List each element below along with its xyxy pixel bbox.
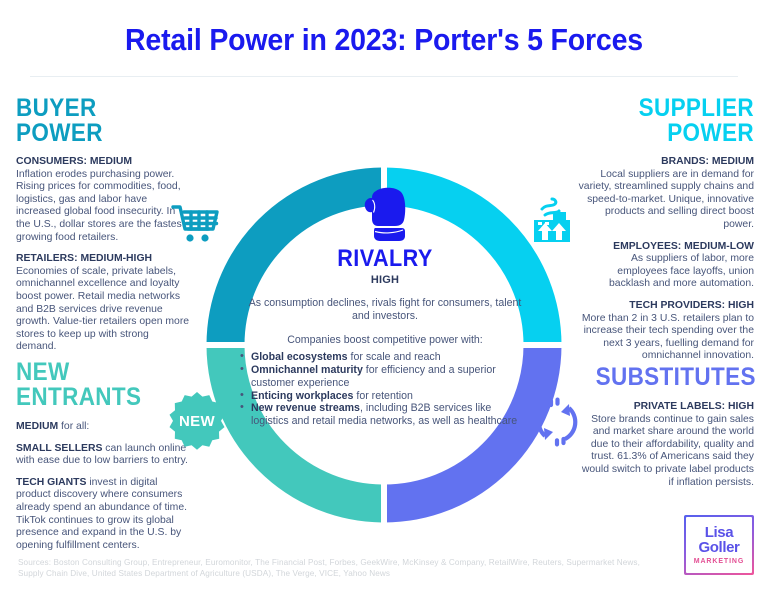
rivalry-title: RIVALRY — [254, 246, 517, 271]
supplier-tech-label: TECH PROVIDERS: HIGH — [629, 300, 754, 311]
supplier-block-brands: BRANDS: MEDIUM Local suppliers are in de… — [578, 156, 754, 232]
infographic-page: Retail Power in 2023: Porter's 5 Forces … — [0, 0, 768, 593]
shopping-cart-icon — [168, 196, 222, 250]
bullet-3-bold: New revenue streams — [251, 402, 360, 414]
new-entrants-section: NEW ENTRANTS MEDIUM for all: SMALL SELLE… — [16, 360, 192, 552]
supplier-employees-text: As suppliers of labor, more employees fa… — [609, 253, 754, 289]
rivalry-intro-text: Companies boost competitive power with: — [239, 334, 531, 347]
sources-text: Sources: Boston Consulting Group, Entrep… — [18, 557, 658, 579]
supplier-power-heading: SUPPLIER POWER — [596, 96, 754, 146]
substitutes-private-label: PRIVATE LABELS: HIGH — [634, 401, 754, 412]
title-divider — [30, 76, 738, 77]
bullet-0-rest: for scale and reach — [348, 351, 441, 363]
center-rivalry-panel: RIVALRY HIGH As consumption declines, ri… — [239, 186, 531, 506]
logo-line-1: Lisa — [705, 525, 733, 540]
substitutes-heading: SUBSTITUTES — [596, 365, 754, 390]
rivalry-lead-text: As consumption declines, rivals fight fo… — [239, 297, 531, 323]
new-medium-text: for all: — [58, 421, 89, 432]
supplier-brands-text: Local suppliers are in demand for variet… — [579, 169, 754, 230]
buyer-retailers-label: RETAILERS: MEDIUM-HIGH — [16, 253, 152, 264]
buyer-consumers-label: CONSUMERS: MEDIUM — [16, 156, 132, 167]
rivalry-level: HIGH — [239, 274, 531, 286]
buyer-power-block-retailers: RETAILERS: MEDIUM-HIGH Economies of scal… — [16, 253, 192, 354]
list-item: Enticing workplaces for retention — [239, 390, 531, 403]
bullet-2-bold: Enticing workplaces — [251, 390, 353, 402]
logo-line-2: Goller — [699, 540, 740, 555]
list-item: New revenue streams, including B2B servi… — [239, 402, 531, 428]
logo-line-3: MARKETING — [694, 558, 745, 565]
substitutes-section: SUBSTITUTES PRIVATE LABELS: HIGH Store b… — [578, 365, 754, 489]
new-entrants-heading: NEW ENTRANTS — [16, 360, 174, 410]
supplier-brands-label: BRANDS: MEDIUM — [661, 156, 754, 167]
bullet-0-bold: Global ecosystems — [251, 351, 348, 363]
substitutes-block-private-labels: PRIVATE LABELS: HIGH Store brands contin… — [578, 401, 754, 489]
new-tech-label: TECH GIANTS — [16, 477, 86, 488]
new-badge-label: NEW — [166, 390, 228, 452]
buyer-power-block-consumers: CONSUMERS: MEDIUM Inflation erodes purch… — [16, 156, 192, 244]
supplier-block-tech-providers: TECH PROVIDERS: HIGH More than 2 in 3 U.… — [578, 300, 754, 363]
substitutes-private-text: Store brands continue to gain sales and … — [582, 414, 754, 488]
new-entrants-block-tech-giants: TECH GIANTS invest in digital product di… — [16, 477, 192, 553]
buyer-retailers-text: Economies of scale, private labels, omni… — [16, 266, 189, 353]
new-medium-label: MEDIUM — [16, 421, 58, 432]
list-item: Omnichannel maturity for efficiency and … — [239, 364, 531, 390]
bullet-2-rest: for retention — [353, 390, 412, 402]
supplier-power-section: SUPPLIER POWER BRANDS: MEDIUM Local supp… — [578, 96, 754, 363]
rivalry-bullet-list: Global ecosystems for scale and reach Om… — [239, 351, 531, 428]
new-small-label: SMALL SELLERS — [16, 443, 102, 454]
page-title: Retail Power in 2023: Porter's 5 Forces — [31, 22, 738, 58]
buyer-power-section: BUYER POWER CONSUMERS: MEDIUM Inflation … — [16, 96, 192, 354]
exchange-arrows-icon — [531, 396, 583, 448]
supplier-block-employees: EMPLOYEES: MEDIUM-LOW As suppliers of la… — [578, 241, 754, 291]
buyer-power-heading: BUYER POWER — [16, 96, 174, 146]
lisa-goller-marketing-logo: Lisa Goller MARKETING — [684, 515, 754, 575]
boxing-glove-icon — [362, 186, 408, 244]
supplier-tech-text: More than 2 in 3 U.S. retailers plan to … — [582, 313, 754, 362]
new-badge-icon: NEW — [166, 390, 228, 452]
supplier-employees-label: EMPLOYEES: MEDIUM-LOW — [613, 241, 754, 252]
buyer-consumers-text: Inflation erodes purchasing power. Risin… — [16, 169, 188, 243]
list-item: Global ecosystems for scale and reach — [239, 351, 531, 364]
bullet-1-bold: Omnichannel maturity — [251, 364, 363, 376]
